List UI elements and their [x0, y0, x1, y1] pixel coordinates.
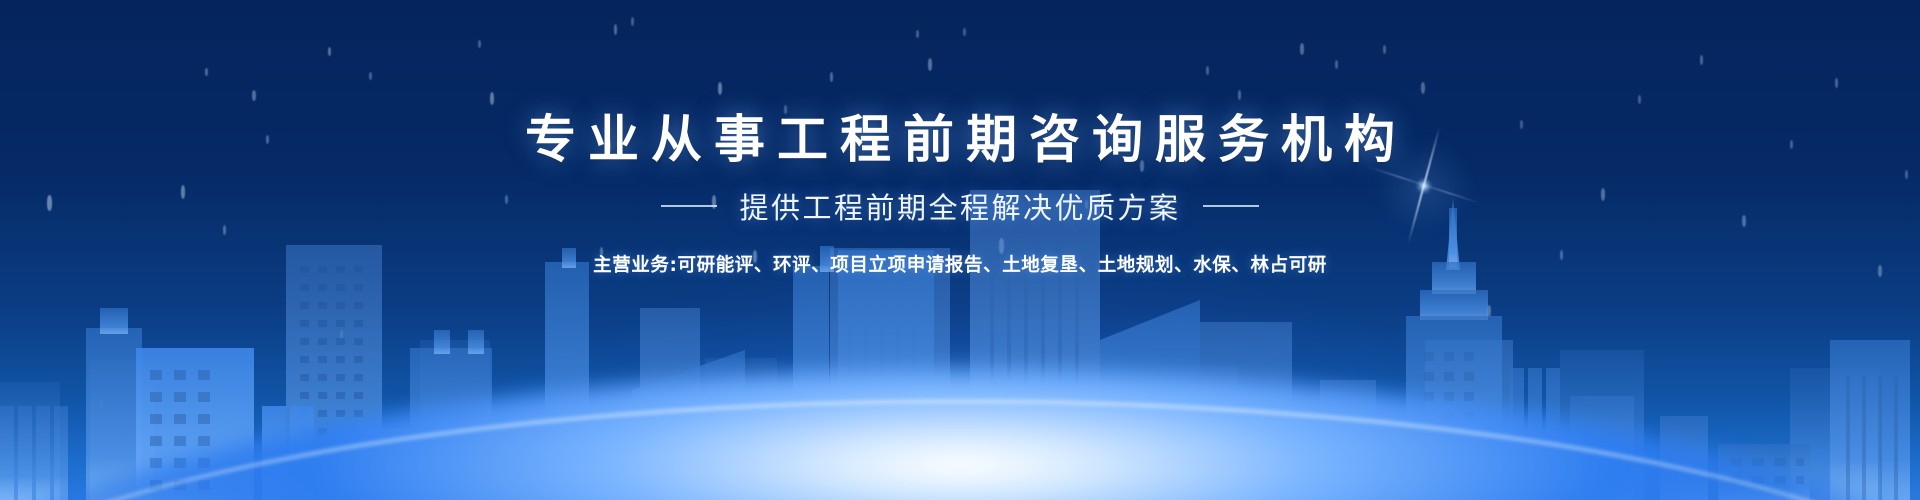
- right-rule-divider: [1203, 205, 1259, 207]
- left-rule-divider: [661, 205, 717, 207]
- banner-subtitle: 提供工程前期全程解决优质方案: [739, 185, 1180, 227]
- main-services-line: 主营业务:可研能评、环评、项目立项申请报告、土地复垦、土地规划、水保、林占可研: [0, 251, 1920, 277]
- banner-text-block: 专业从事工程前期咨询服务机构 提供工程前期全程解决优质方案 主营业务:可研能评、…: [0, 0, 1920, 277]
- subtitle-row: 提供工程前期全程解决优质方案: [0, 185, 1920, 227]
- hero-banner: 专业从事工程前期咨询服务机构 提供工程前期全程解决优质方案 主营业务:可研能评、…: [0, 0, 1920, 500]
- page-title: 专业从事工程前期咨询服务机构: [0, 112, 1920, 169]
